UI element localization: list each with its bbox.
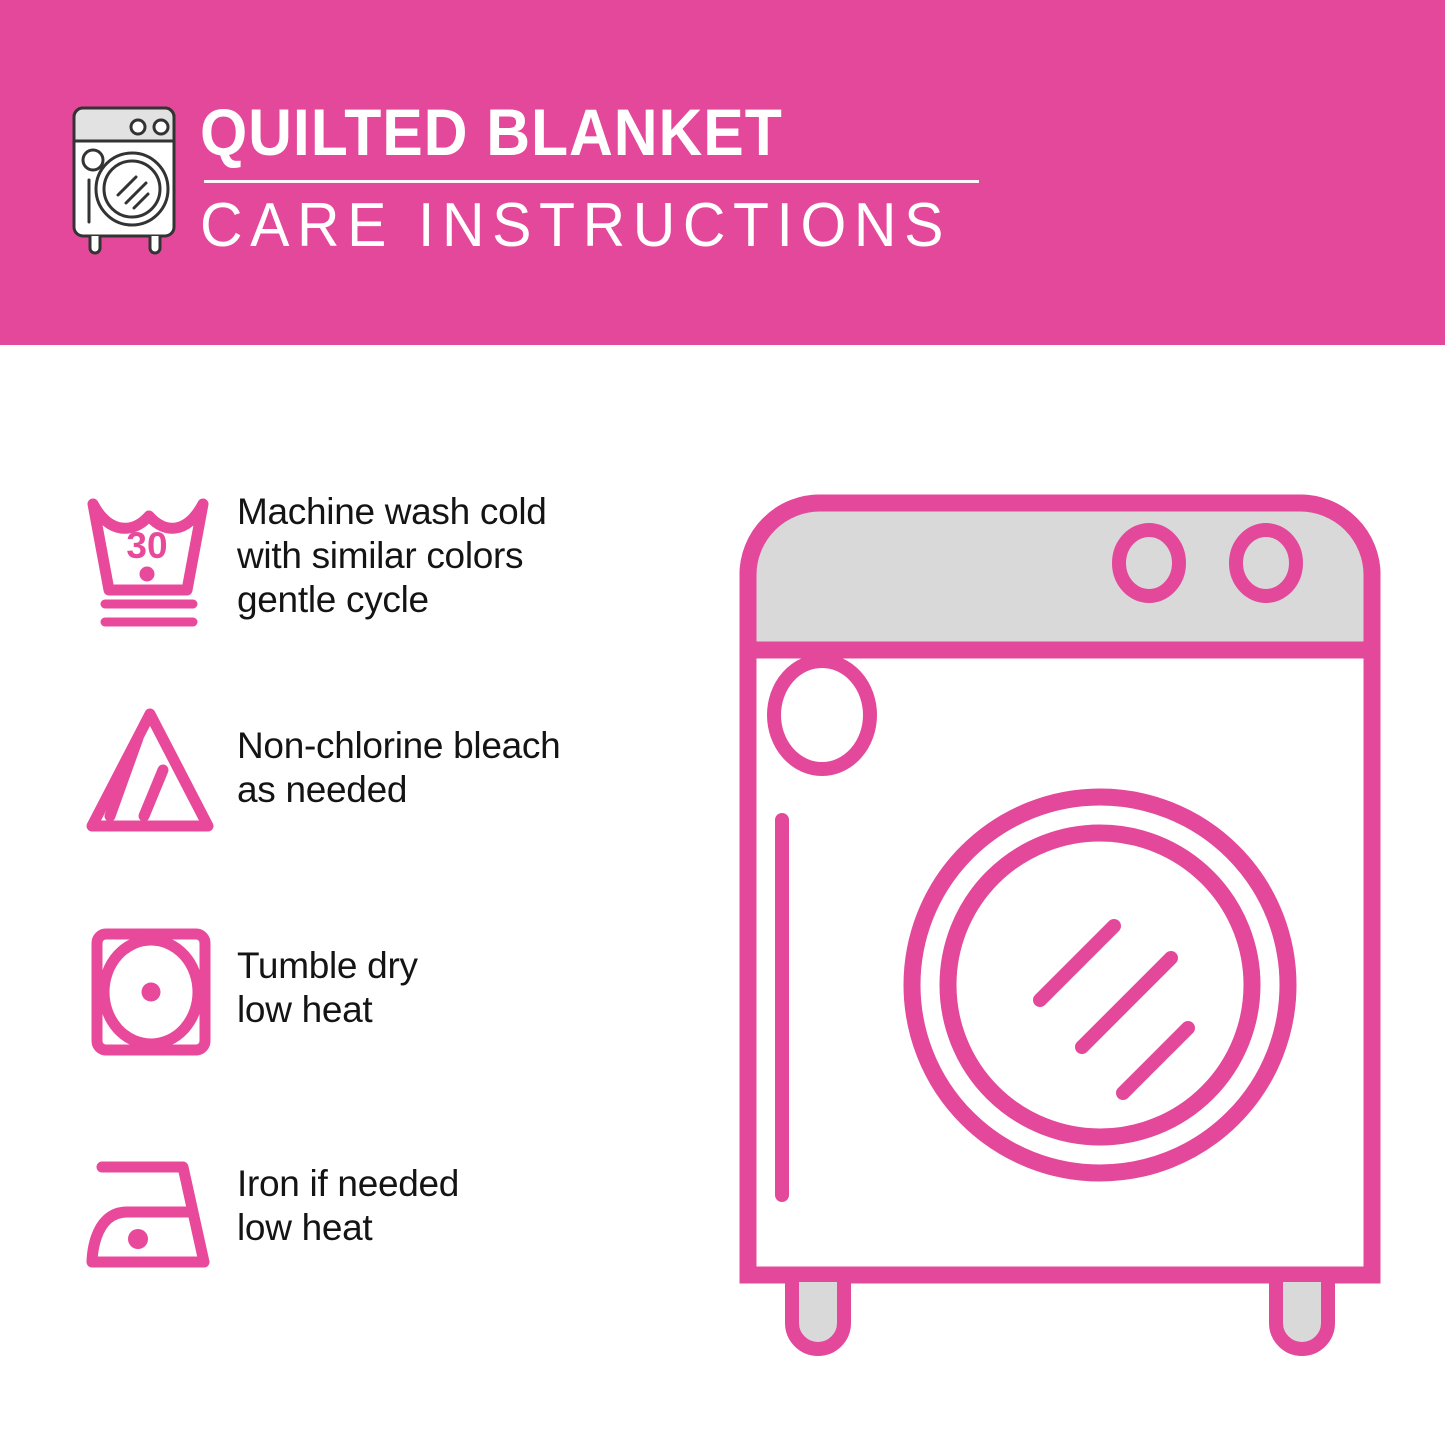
care-instruction-list: 30 Machine wash cold with similar colors… xyxy=(62,470,682,1342)
washing-machine-icon xyxy=(62,100,192,255)
care-text-iron: Iron if needed low heat xyxy=(237,1124,682,1250)
care-row-bleach: Non-chlorine bleach as needed xyxy=(62,688,682,906)
machine-leg-left xyxy=(792,1275,844,1349)
front-load-washing-machine-illustration xyxy=(730,485,1390,1365)
indicator-circle xyxy=(774,661,870,769)
care-row-iron: Iron if needed low heat xyxy=(62,1124,682,1342)
tumble-dry-low-heat-icon xyxy=(62,906,237,1066)
drum-inner-circle xyxy=(948,833,1252,1137)
care-line: Non-chlorine bleach xyxy=(237,724,682,768)
header-text-block: QUILTED BLANKET CARE INSTRUCTIONS xyxy=(200,96,1000,259)
machine-leg-right xyxy=(1276,1275,1328,1349)
care-instructions-page: QUILTED BLANKET CARE INSTRUCTIONS 30 xyxy=(0,0,1445,1445)
control-knob-left xyxy=(1119,530,1179,596)
care-line: Machine wash cold xyxy=(237,490,682,534)
care-line: gentle cycle xyxy=(237,578,682,622)
care-text-bleach: Non-chlorine bleach as needed xyxy=(237,688,682,812)
care-row-machine-wash: 30 Machine wash cold with similar colors… xyxy=(62,470,682,688)
page-title: QUILTED BLANKET xyxy=(200,96,936,168)
triangle-non-chlorine-bleach-icon xyxy=(62,688,237,848)
care-text-machine-wash: Machine wash cold with similar colors ge… xyxy=(237,470,682,622)
care-line: with similar colors xyxy=(237,534,682,578)
control-knob-right xyxy=(1236,530,1296,596)
wash-temp-label: 30 xyxy=(126,525,167,566)
care-text-tumble-dry: Tumble dry low heat xyxy=(237,906,682,1032)
care-line: Tumble dry xyxy=(237,944,682,988)
title-divider xyxy=(204,180,979,183)
page-subtitle: CARE INSTRUCTIONS xyxy=(200,193,960,259)
header-band: QUILTED BLANKET CARE INSTRUCTIONS xyxy=(0,0,1445,345)
wash-basin-30-gentle-icon: 30 xyxy=(62,470,237,630)
care-row-tumble-dry: Tumble dry low heat xyxy=(62,906,682,1124)
care-line: low heat xyxy=(237,1206,682,1250)
iron-low-heat-icon xyxy=(62,1124,237,1284)
care-line: Iron if needed xyxy=(237,1162,682,1206)
care-line: as needed xyxy=(237,768,682,812)
care-line: low heat xyxy=(237,988,682,1032)
